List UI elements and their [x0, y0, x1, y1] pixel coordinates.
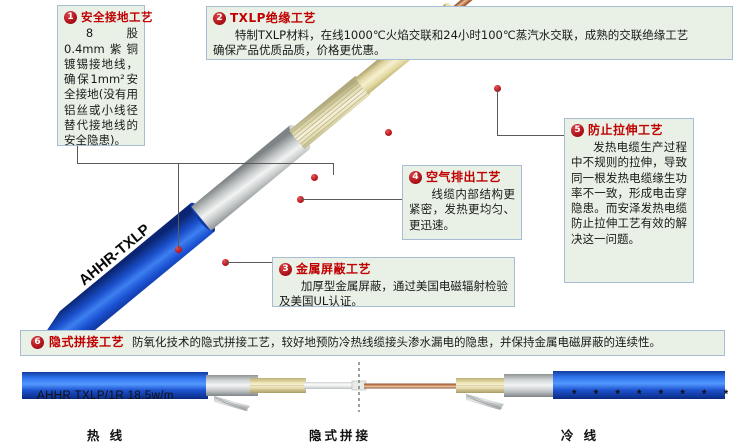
callout-4-body-text: 线缆内部结构更紧密，发热更均匀、更迅速。	[409, 187, 515, 232]
callout-6-body: 防氧化技术的隐式拼接工艺，较好地预防冷热线缆接头渗水漏电的隐患，并保持金属电磁屏…	[132, 335, 661, 350]
label-hidden-splice: 隐式拼接	[290, 425, 390, 444]
callout-1-title: 安全接地工艺	[81, 10, 153, 25]
callout-2-number-badge: 2	[213, 12, 226, 25]
callout-3-body-line2: 及美国UL认证。	[279, 294, 363, 308]
callout-4-air-exhaust[interactable]: 4 空气排出工艺 线缆内部结构更紧密，发热更均匀、更迅速。	[402, 165, 522, 240]
callout-2-body: 特制TXLP材料，在线1000℃火焰交联和24小时100℃蒸汽水交联，成熟的交联…	[213, 28, 726, 59]
leader-line-4-h	[301, 199, 402, 200]
callout-5-title: 防止拉伸工艺	[588, 123, 663, 139]
callout-2-txlp-insulation[interactable]: 2 TXLP绝缘工艺 特制TXLP材料，在线1000℃火焰交联和24小时100℃…	[206, 6, 733, 60]
leader-line-5-v	[497, 89, 498, 136]
label-cold-line: 冷 线	[530, 425, 630, 444]
label-hot-line: 热 线	[56, 425, 156, 444]
callout-3-metal-shield[interactable]: 3 金属屏蔽工艺 加厚型金属屏蔽，通过美国电磁辐射检验 及美国UL认证。	[272, 257, 515, 307]
callout-2-body-line1: 特制TXLP材料，在线1000℃火焰交联和24小时100℃蒸汽水交联，成熟的交联…	[235, 28, 688, 42]
callout-2-title: TXLP绝缘工艺	[230, 11, 316, 27]
callout-1-header: 1 安全接地工艺	[64, 10, 138, 25]
anchor-dot-5	[385, 129, 392, 136]
leader-line-5-h	[497, 135, 564, 136]
hot-cable-printed-text: AHHR TXLP/1R 18.5w/m	[37, 390, 174, 402]
callout-2-body-line2: 确保产品优质品质，价格更优惠。	[213, 43, 386, 57]
callout-5-anti-stretch[interactable]: 5 防止拉伸工艺 发热电缆生产过程中不规则的拉伸，导致同一根发热电缆缘生功率不一…	[564, 118, 694, 283]
anchor-dot-2	[311, 174, 318, 181]
callout-3-body-line1: 加厚型金属屏蔽，通过美国电磁辐射检验	[301, 279, 508, 293]
callout-1-safety-grounding[interactable]: 1 安全接地工艺 8股0.4mm紫铜镀锡接地线，确保1mm²安全接地(没有用铝丝…	[57, 5, 145, 146]
callout-4-header: 4 空气排出工艺	[409, 170, 515, 186]
callout-6-title: 隐式拼接工艺	[49, 335, 124, 351]
callout-5-body-text: 发热电缆生产过程中不规则的拉伸，导致同一根发热电缆缘生功率不一致，形成电击穿隐患…	[571, 140, 687, 246]
callout-1-body: 8股0.4mm紫铜镀锡接地线，确保1mm²安全接地(没有用铝丝或小线径替代接地线…	[64, 26, 138, 148]
diagram-canvas: AHHR-TXLP 1 安全接地工艺 8股0.4mm紫铜镀锡接地线，确保1mm²…	[0, 0, 733, 448]
callout-1-number-badge: 1	[64, 11, 77, 24]
leader-line-3-h	[226, 262, 272, 263]
callout-3-number-badge: 3	[279, 263, 292, 276]
callout-5-header: 5 防止拉伸工艺	[571, 123, 687, 139]
callout-6-number-badge: 6	[31, 336, 44, 349]
cold-cable-printed-text: * * * * * * * * * *	[572, 389, 733, 401]
callout-4-title: 空气排出工艺	[426, 170, 501, 186]
leader-line-1-h	[77, 163, 333, 164]
callout-6-header: 6 隐式拼接工艺	[31, 335, 124, 351]
callout-2-header: 2 TXLP绝缘工艺	[213, 11, 726, 27]
leader-line-1-v	[77, 146, 78, 164]
callout-6-hidden-splice[interactable]: 6 隐式拼接工艺 防氧化技术的隐式拼接工艺，较好地预防冷热线缆接头渗水漏电的隐患…	[20, 330, 725, 356]
callout-1-body-text: 8股0.4mm紫铜镀锡接地线，确保1mm²安全接地(没有用铝丝或小线径替代接地线…	[64, 26, 138, 147]
leader-line-2-v	[333, 163, 334, 175]
callout-3-title: 金属屏蔽工艺	[296, 262, 371, 278]
callout-3-header: 3 金属屏蔽工艺	[279, 262, 508, 278]
callout-4-body: 线缆内部结构更紧密，发热更均匀、更迅速。	[409, 187, 515, 233]
callout-3-body: 加厚型金属屏蔽，通过美国电磁辐射检验 及美国UL认证。	[279, 279, 508, 310]
callout-5-body: 发热电缆生产过程中不规则的拉伸，导致同一根发热电缆缘生功率不一致，形成电击穿隐患…	[571, 140, 687, 247]
leader-line-1b-v	[178, 163, 179, 249]
callout-4-number-badge: 4	[409, 171, 422, 184]
callout-5-number-badge: 5	[571, 124, 584, 137]
